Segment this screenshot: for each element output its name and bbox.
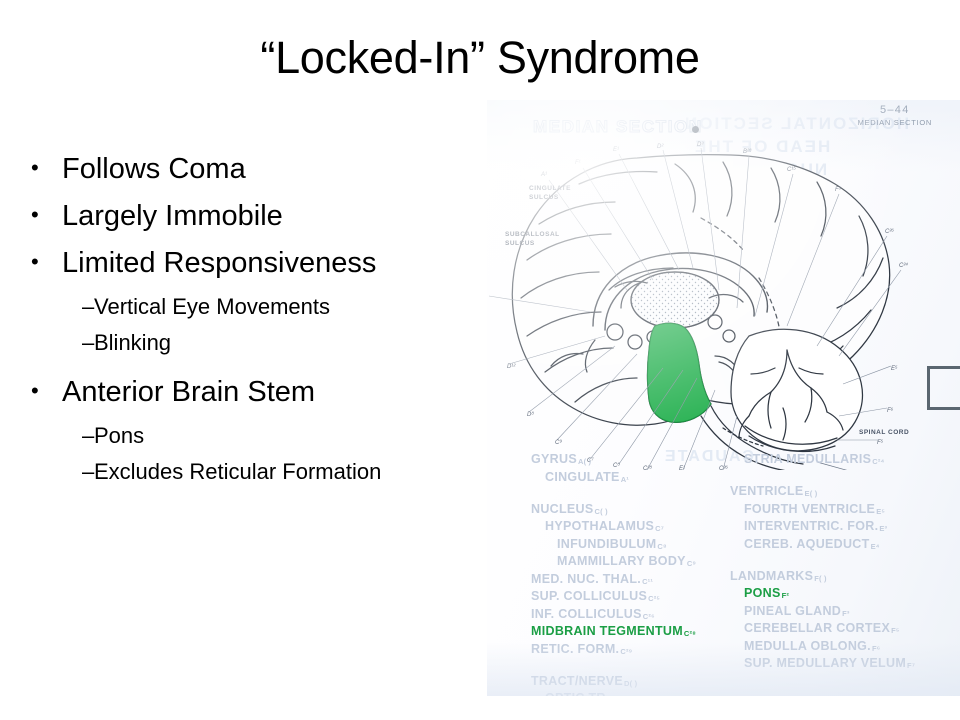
- subcallosal-sulcus-label-line2: SULCUS: [505, 240, 535, 247]
- legend-entry-label: FOURTH VENTRICLE: [744, 502, 875, 516]
- legend-entry-code: C²⁹: [620, 647, 632, 656]
- svg-text:E⁵: E⁵: [891, 365, 898, 372]
- legend-entry: PINEAL GLANDF³: [730, 604, 915, 622]
- legend-entry-code: C²⁴: [872, 457, 884, 466]
- list-item-sub: – Blinking: [22, 332, 474, 354]
- legend-entry-label: STRIA MEDULLARIS: [744, 452, 871, 466]
- brain-anatomy-plate: HORIZONTAL SECTION HEAD OF THE NUCLEUS C…: [487, 100, 960, 696]
- list-item-label: Pons: [94, 425, 474, 447]
- legend-entry-code: C²⁵: [648, 594, 660, 603]
- legend-entry: INTERVENTRIC. FOR.E³: [730, 519, 915, 537]
- legend-entry-label: NUCLEUS: [531, 502, 594, 516]
- legend-entry-label: MEDULLA OBLONG.: [744, 639, 871, 653]
- legend-entry: MEDULLA OBLONG.F⁶: [730, 639, 915, 657]
- legend-entry-code: C( ): [595, 507, 608, 516]
- list-item: • Follows Coma: [22, 155, 474, 184]
- legend-spacer: [531, 487, 696, 502]
- legend-entry-code: E⁵: [876, 507, 885, 516]
- svg-text:A¹: A¹: [540, 172, 547, 178]
- legend-entry-code: F⁶: [872, 644, 880, 653]
- svg-text:C²⁴: C²⁴: [899, 262, 908, 269]
- legend-entry-label: SUP. MEDULLARY VELUM: [744, 656, 906, 670]
- legend-entry-label: SUP. COLLICULUS: [531, 589, 647, 603]
- legend-entry-code: D( ): [624, 679, 637, 688]
- list-item-sub: – Excludes Reticular Formation: [22, 461, 474, 483]
- legend-entry: INFUNDIBULUMC⁸: [531, 537, 696, 555]
- svg-text:D²: D²: [657, 144, 664, 150]
- legend-entry: NUCLEUSC( ): [531, 502, 696, 520]
- bullet-list: • Follows Coma • Largely Immobile • Limi…: [22, 155, 474, 497]
- list-item-sub: – Pons: [22, 425, 474, 447]
- legend-entry-code: C²⁸: [684, 629, 696, 638]
- legend-entry: SUP. MEDULLARY VELUMF⁷: [730, 656, 915, 674]
- legend-entry-label: INTERVENTRIC. FOR.: [744, 519, 878, 533]
- legend-entry-label: RETIC. FORM.: [531, 642, 619, 656]
- svg-text:B²⁸: B²⁸: [743, 148, 752, 155]
- list-item-label: Largely Immobile: [62, 202, 474, 231]
- list-item-sub: – Vertical Eye Movements: [22, 296, 474, 318]
- svg-text:C¹⁵: C¹⁵: [787, 166, 796, 173]
- legend-entry-label: PINEAL GLAND: [744, 604, 841, 618]
- legend-entry: VENTRICLEE( ): [730, 484, 915, 502]
- dash-marker-icon: –: [22, 332, 94, 354]
- legend-entry-code: C¹¹: [642, 577, 653, 586]
- svg-text:D⁸: D⁸: [527, 411, 534, 418]
- legend-entry: CEREB. AQUEDUCTE⁴: [730, 537, 915, 555]
- legend-entry-label: INFUNDIBULUM: [557, 537, 656, 551]
- legend-entry-code: F⁵: [891, 626, 900, 635]
- legend-entry-code: E³: [879, 524, 887, 533]
- legend-spacer: [730, 470, 915, 485]
- legend-entry: CEREBELLAR CORTEXF⁵: [730, 621, 915, 639]
- legend-entry: GYRUSA( ): [531, 452, 696, 470]
- legend-entry: PONSF²: [730, 586, 915, 604]
- legend-entry-code: E⁴: [871, 542, 880, 551]
- legend-entry: LANDMARKSF( ): [730, 569, 915, 587]
- subcallosal-sulcus-label-line1: SUBCALLOSAL: [505, 231, 560, 238]
- legend-entry-label: MIDBRAIN TEGMENTUM: [531, 624, 683, 638]
- bullet-marker-icon: •: [22, 155, 62, 181]
- svg-text:E¹: E¹: [613, 147, 619, 153]
- legend-entry-label: CINGULATE: [545, 470, 620, 484]
- plate-number: 5–44: [858, 103, 932, 118]
- legend-entry-label: OPTIC TR.: [545, 691, 610, 696]
- list-item-label: Limited Responsiveness: [62, 249, 474, 278]
- plate-heading: MEDIAN SECTION: [533, 117, 703, 137]
- bullet-marker-icon: •: [22, 378, 62, 404]
- list-item-label: Blinking: [94, 332, 474, 354]
- legend-entry: FOURTH VENTRICLEE⁵: [730, 502, 915, 520]
- legend-entry: RETIC. FORM.C²⁹: [531, 642, 696, 660]
- legend-entry-label: MAMMILLARY BODY: [557, 554, 686, 568]
- cingulate-sulcus-label-line2: SULCUS: [529, 194, 559, 201]
- legend-entry-code: F( ): [814, 574, 826, 583]
- list-item-label: Follows Coma: [62, 155, 474, 184]
- slide-canvas: “Locked-In” Syndrome • Follows Coma • La…: [0, 0, 960, 720]
- legend-entry: SUP. COLLICULUSC²⁵: [531, 589, 696, 607]
- list-item: • Limited Responsiveness: [22, 249, 474, 278]
- legend-entry: MAMMILLARY BODYC⁹: [531, 554, 696, 572]
- legend-entry: INF. COLLICULUSC²⁶: [531, 607, 696, 625]
- legend-entry-code: C⁹: [687, 559, 696, 568]
- legend-entry: HYPOTHALAMUSC⁷: [531, 519, 696, 537]
- svg-text:F¹: F¹: [575, 160, 581, 166]
- svg-text:F³: F³: [835, 187, 842, 193]
- list-item: • Anterior Brain Stem: [22, 378, 474, 407]
- legend-entry-label: HYPOTHALAMUS: [545, 519, 654, 533]
- svg-text:C⁹: C⁹: [555, 439, 562, 446]
- cingulate-sulcus-label: CINGULATE SULCUS: [529, 185, 571, 203]
- legend-entry-label: LANDMARKS: [730, 569, 813, 583]
- svg-text:C²⁶: C²⁶: [885, 228, 894, 235]
- legend-entry-code: C⁷: [655, 524, 664, 533]
- legend-entry: TRACT/NERVED( ): [531, 674, 696, 692]
- legend-entry: MIDBRAIN TEGMENTUMC²⁸: [531, 624, 696, 642]
- plate-subtitle: MEDIAN SECTION: [858, 118, 932, 128]
- legend-entry-code: F²: [782, 591, 789, 600]
- legend-entry-code: C⁸: [657, 542, 666, 551]
- page-title: “Locked-In” Syndrome: [0, 34, 960, 81]
- legend-entry-label: CEREB. AQUEDUCT: [744, 537, 870, 551]
- legend-entry-label: VENTRICLE: [730, 484, 804, 498]
- subcallosal-sulcus-label: SUBCALLOSAL SULCUS: [505, 231, 560, 249]
- dash-marker-icon: –: [22, 461, 94, 483]
- bullet-marker-icon: •: [22, 202, 62, 228]
- svg-text:D³: D³: [697, 142, 704, 148]
- legend-entry-label: INF. COLLICULUS: [531, 607, 642, 621]
- svg-text:F⁶: F⁶: [887, 407, 894, 414]
- legend-entry-code: A¹: [621, 475, 629, 484]
- legend-entry: STRIA MEDULLARISC²⁴: [730, 452, 915, 470]
- legend-entry: MED. NUC. THAL.C¹¹: [531, 572, 696, 590]
- svg-text:F⁵: F⁵: [877, 439, 884, 446]
- cingulate-sulcus-label-line1: CINGULATE: [529, 185, 571, 192]
- legend-entry-label: PONS: [744, 586, 781, 600]
- bullet-marker-icon: •: [22, 249, 62, 275]
- legend-entry-code: A( ): [578, 457, 591, 466]
- legend-entry-label: CEREBELLAR CORTEX: [744, 621, 890, 635]
- legend-entry-label: GYRUS: [531, 452, 577, 466]
- right-margin-bracket-icon: [927, 366, 960, 410]
- legend-column-left: GYRUSA( )CINGULATEA¹NUCLEUSC( )HYPOTHALA…: [531, 452, 696, 696]
- list-item-label: Anterior Brain Stem: [62, 378, 474, 407]
- plate-heading-dot-icon: [692, 126, 699, 133]
- legend-entry-code: C²⁶: [643, 612, 655, 621]
- legend-entry-code: F⁷: [907, 661, 915, 670]
- legend-column-right: STRIA MEDULLARISC²⁴VENTRICLEE( )FOURTH V…: [730, 452, 915, 674]
- legend-spacer: [531, 659, 696, 674]
- list-item-label: Excludes Reticular Formation: [94, 461, 474, 483]
- legend-entry-code: F³: [842, 609, 849, 618]
- dash-marker-icon: –: [22, 425, 94, 447]
- legend-entry: OPTIC TR.D¹: [531, 691, 696, 696]
- svg-text:C²⁶: C²⁶: [719, 465, 728, 470]
- list-item-label: Vertical Eye Movements: [94, 296, 474, 318]
- legend-entry-code: E( ): [805, 489, 818, 498]
- legend-spacer: [730, 554, 915, 569]
- list-item: • Largely Immobile: [22, 202, 474, 231]
- legend-entry: CINGULATEA¹: [531, 470, 696, 488]
- legend-entry-label: MED. NUC. THAL.: [531, 572, 641, 586]
- dash-marker-icon: –: [22, 296, 94, 318]
- spinal-cord-label: SPINAL CORD: [859, 429, 909, 438]
- legend-entry-label: TRACT/NERVE: [531, 674, 623, 688]
- plate-number-block: 5–44 MEDIAN SECTION: [858, 103, 932, 128]
- svg-text:D¹²: D¹²: [507, 364, 516, 370]
